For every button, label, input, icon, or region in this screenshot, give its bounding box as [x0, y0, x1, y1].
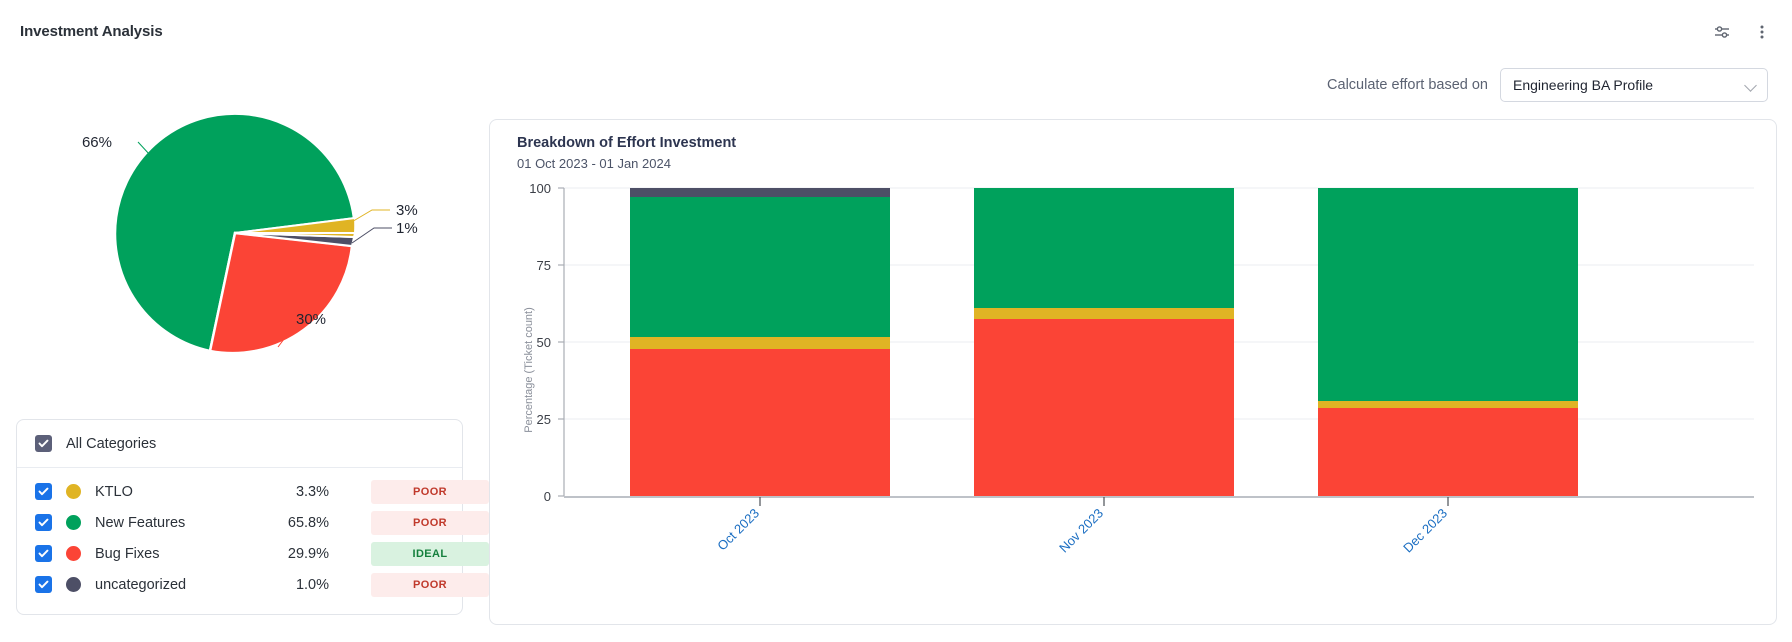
status-badge: IDEAL — [371, 542, 489, 566]
effort-basis-select[interactable]: Engineering BA Profile — [1500, 68, 1768, 102]
list-item[interactable]: uncategorized 1.0% POOR — [17, 569, 462, 600]
check-icon — [38, 548, 49, 559]
category-checkbox-bug-fixes[interactable] — [35, 545, 52, 562]
stacked-bar-chart-svg: Percentage (Ticket count) 100 75 50 25 0 — [490, 120, 1778, 626]
bar-segment-uncategorized-oct[interactable] — [630, 188, 890, 197]
pie-chart-svg: 66% 3% 1% 30% — [0, 110, 470, 355]
bar-segment-new-features-oct[interactable] — [630, 197, 890, 337]
color-swatch-ktlo — [66, 484, 81, 499]
x-tick-label-oct-2023[interactable]: Oct 2023 — [714, 506, 762, 554]
bar-group-oct-2023[interactable] — [630, 188, 890, 496]
bar-segment-ktlo-dec[interactable] — [1318, 401, 1578, 408]
category-percentage: 1.0% — [267, 577, 329, 593]
check-icon — [38, 486, 49, 497]
x-tick-label-dec-2023[interactable]: Dec 2023 — [1400, 506, 1450, 556]
y-axis-title: Percentage (Ticket count) — [523, 307, 535, 433]
category-percentage: 3.3% — [267, 484, 329, 500]
category-checkbox-new-features[interactable] — [35, 514, 52, 531]
effort-basis-selected-value: Engineering BA Profile — [1513, 77, 1653, 93]
status-badge: POOR — [371, 511, 489, 535]
y-tick-label-25: 25 — [537, 412, 551, 427]
leader-line-uncategorized — [352, 228, 392, 243]
left-column: 66% 3% 1% 30% All Categories — [0, 110, 470, 355]
list-item[interactable]: KTLO 3.3% POOR — [17, 476, 462, 507]
pie-label-bug-fixes: 30% — [296, 311, 326, 328]
pie-slice-bug-fixes[interactable] — [210, 233, 352, 353]
bar-segment-ktlo-nov[interactable] — [974, 308, 1234, 319]
bar-segment-bug-fixes-nov[interactable] — [974, 319, 1234, 496]
y-tick-label-75: 75 — [537, 258, 551, 273]
check-icon — [38, 579, 49, 590]
pie-label-ktlo: 3% — [396, 202, 418, 219]
check-icon — [38, 438, 49, 449]
investment-pie-chart: 66% 3% 1% 30% — [0, 110, 470, 355]
color-swatch-bug-fixes — [66, 546, 81, 561]
pie-label-uncategorized: 1% — [396, 220, 418, 237]
color-swatch-new-features — [66, 515, 81, 530]
bar-group-nov-2023[interactable] — [974, 188, 1234, 496]
color-swatch-uncategorized — [66, 577, 81, 592]
sliders-icon-glyph — [1713, 23, 1731, 41]
category-checkbox-ktlo[interactable] — [35, 483, 52, 500]
effort-breakdown-card: Breakdown of Effort Investment 01 Oct 20… — [489, 119, 1777, 625]
page-header: Investment Analysis — [0, 0, 1792, 62]
bar-segment-ktlo-oct[interactable] — [630, 337, 890, 349]
category-percentage: 65.8% — [267, 515, 329, 531]
status-badge: POOR — [371, 480, 489, 504]
x-tick-label-nov-2023[interactable]: Nov 2023 — [1056, 506, 1106, 556]
check-icon — [38, 517, 49, 528]
category-name: Bug Fixes — [95, 546, 253, 562]
bar-group-dec-2023[interactable] — [1318, 188, 1578, 496]
category-name: New Features — [95, 515, 253, 531]
category-legend-card: All Categories KTLO 3.3% POOR — [16, 419, 463, 615]
effort-basis-label: Calculate effort based on — [1327, 77, 1488, 93]
category-percentage: 29.9% — [267, 546, 329, 562]
chevron-down-icon — [1745, 79, 1757, 91]
kebab-menu-icon[interactable] — [1746, 16, 1778, 48]
bar-segment-bug-fixes-oct[interactable] — [630, 349, 890, 496]
header-actions — [1706, 16, 1778, 48]
all-categories-label: All Categories — [66, 436, 156, 452]
investment-analysis-page: Investment Analysis Calculate effo — [0, 0, 1792, 642]
legend-all-categories-row[interactable]: All Categories — [17, 420, 462, 468]
legend-rows: KTLO 3.3% POOR New Features 65.8% POOR — [17, 468, 462, 614]
y-tick-label-50: 50 — [537, 335, 551, 350]
category-checkbox-uncategorized[interactable] — [35, 576, 52, 593]
y-tick-label-100: 100 — [529, 181, 551, 196]
pie-label-new-features: 66% — [82, 134, 112, 151]
category-name: KTLO — [95, 484, 253, 500]
sliders-icon[interactable] — [1706, 16, 1738, 48]
kebab-menu-icon-glyph — [1753, 23, 1771, 41]
bar-segment-bug-fixes-dec[interactable] — [1318, 408, 1578, 496]
effort-basis-control: Calculate effort based on Engineering BA… — [1327, 68, 1768, 102]
status-badge: POOR — [371, 573, 489, 597]
bar-segment-new-features-nov[interactable] — [974, 188, 1234, 308]
category-name: uncategorized — [95, 577, 253, 593]
bar-segment-new-features-dec[interactable] — [1318, 188, 1578, 401]
y-tick-label-0: 0 — [544, 489, 551, 504]
all-categories-checkbox[interactable] — [35, 435, 52, 452]
page-title: Investment Analysis — [20, 23, 163, 40]
list-item[interactable]: New Features 65.8% POOR — [17, 507, 462, 538]
list-item[interactable]: Bug Fixes 29.9% IDEAL — [17, 538, 462, 569]
leader-line-new-features — [138, 142, 150, 155]
